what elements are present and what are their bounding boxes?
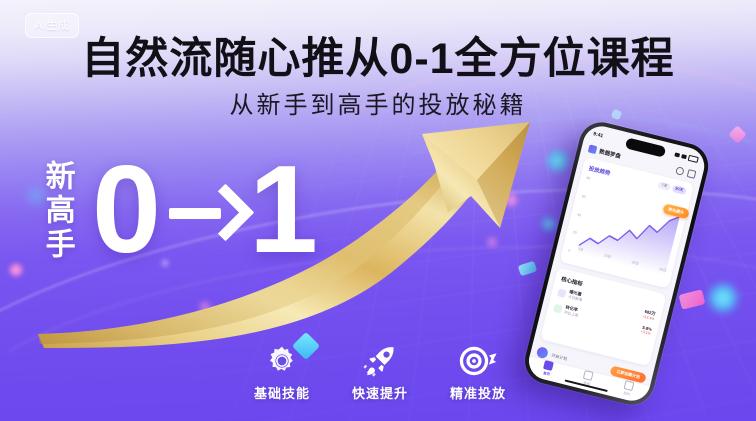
app-name: 数据罗盘 xyxy=(598,147,621,160)
chart-area: 80 60 40 20 0 xyxy=(568,176,684,277)
glow-orb-pink-3 xyxy=(503,192,519,208)
hero-to-value: 1 xyxy=(249,148,316,272)
chart-badge: 转化提升 xyxy=(662,203,690,219)
cta-row: 开启计划 立即创建计划 xyxy=(536,346,647,384)
chart-y-axis: 80 60 40 20 0 xyxy=(568,176,595,255)
ai-generated-watermark: AI生成 xyxy=(25,13,79,38)
list-item[interactable]: 转化率 环比上周 5.8% +3.1% xyxy=(553,302,653,337)
y-tick: 0 xyxy=(568,248,577,254)
confetti-rect-cyan xyxy=(518,261,538,277)
glow-orb-cyan-2 xyxy=(540,215,558,233)
feature-row: 基础技能 快速提升 xyxy=(240,342,520,402)
avatar xyxy=(536,346,549,359)
metric-change: +3.1% xyxy=(640,329,651,335)
tab-label: 数据 xyxy=(583,380,591,386)
glow-orb-pink-2 xyxy=(198,300,212,314)
phone-notch xyxy=(625,137,666,157)
user-icon xyxy=(623,380,634,391)
x-tick: 10日 xyxy=(603,252,612,261)
range-option-30d[interactable]: 30天 xyxy=(671,185,687,195)
rocket-icon xyxy=(362,342,398,380)
phone-tab-bar: 首页 数据 我的 xyxy=(525,355,650,404)
feature-basic-skills[interactable]: 基础技能 xyxy=(240,342,324,402)
tab-label: 我的 xyxy=(623,390,631,396)
confetti-diamond-pink xyxy=(728,125,746,143)
list-item[interactable]: 曝光量 今日新增 682万 +12.4% xyxy=(557,286,657,321)
phone-screen: 9:41 数据罗盘 投放趋势 xyxy=(525,122,708,404)
y-tick: 80 xyxy=(586,176,595,182)
wifi-icon xyxy=(681,154,687,159)
glow-orb-cyan-3 xyxy=(706,281,740,315)
chart-title: 投放趋势 xyxy=(588,164,687,196)
metric-name: 曝光量 xyxy=(569,289,642,313)
phone-mockup: 9:41 数据罗盘 投放趋势 xyxy=(516,114,742,380)
page-title: 自然流随心推从0-1全方位课程 xyxy=(0,36,756,82)
app-header: 数据罗盘 xyxy=(580,140,704,184)
x-tick: 30日 xyxy=(658,266,667,275)
metric-value: 5.8% xyxy=(641,325,652,332)
feature-precise-delivery[interactable]: 精准投放 xyxy=(436,342,520,402)
signal-icon xyxy=(674,152,680,157)
zero-to-one-hero: 0 1 xyxy=(92,148,316,272)
home-icon xyxy=(543,360,554,371)
phone-status-bar: 9:41 xyxy=(584,126,707,168)
feature-label: 快速提升 xyxy=(352,383,408,402)
tab-data[interactable]: 数据 xyxy=(582,370,594,387)
tab-label: 首页 xyxy=(543,370,551,376)
metric-name: 转化率 xyxy=(565,305,640,329)
metric-sub: 环比上周 xyxy=(564,310,639,333)
glow-orb-white-2 xyxy=(600,120,618,138)
chart-x-axis: 1日 10日 20日 30日 xyxy=(577,246,667,276)
y-tick: 60 xyxy=(581,194,590,200)
cta-text: 开启计划 xyxy=(551,352,568,362)
vertical-tagline: 新高手 xyxy=(38,160,75,262)
promo-banner: AI生成 自然流随心推从0-1全方位课程 从新手到高手的投放秘籍 新高手 xyxy=(0,0,756,421)
feature-fast-growth[interactable]: 快速提升 xyxy=(338,342,422,402)
x-tick: 20日 xyxy=(630,259,639,268)
x-tick: 1日 xyxy=(577,246,584,255)
feature-label: 基础技能 xyxy=(254,383,310,402)
status-time: 9:41 xyxy=(593,131,604,139)
metric-value: 682万 xyxy=(643,308,656,317)
area-chart xyxy=(577,178,684,277)
battery-icon xyxy=(688,155,699,163)
y-tick: 20 xyxy=(572,230,581,236)
range-option-7d[interactable]: 7天 xyxy=(657,181,671,191)
home-indicator xyxy=(565,379,608,392)
chart-plot xyxy=(577,178,684,277)
create-plan-button[interactable]: 立即创建计划 xyxy=(610,365,647,383)
metric-icon xyxy=(553,303,563,313)
phone-frame: 9:41 数据罗盘 投放趋势 xyxy=(520,118,713,410)
y-tick: 40 xyxy=(577,212,586,218)
glow-orb-cyan-1 xyxy=(545,148,571,174)
metrics-card: 核心指标 曝光量 今日新增 682万 +12.4% xyxy=(540,267,667,366)
page-subtitle: 从新手到高手的投放秘籍 xyxy=(0,92,756,121)
confetti-rect-pink xyxy=(679,289,706,309)
gear-icon xyxy=(265,342,299,380)
metric-sub: 今日新增 xyxy=(567,295,640,318)
right-arrow-icon xyxy=(167,181,241,239)
message-icon[interactable] xyxy=(687,169,697,179)
metrics-title: 核心指标 xyxy=(560,275,659,307)
target-icon xyxy=(458,342,498,380)
glow-orb-pink-1 xyxy=(8,262,24,278)
bell-icon[interactable] xyxy=(675,166,685,176)
chart-range-selector[interactable]: 7天 30天 xyxy=(657,181,686,195)
tab-home[interactable]: 首页 xyxy=(542,360,554,377)
hero-from-value: 0 xyxy=(92,148,159,272)
chart-card: 投放趋势 7天 30天 80 60 40 20 0 xyxy=(559,157,694,289)
feature-label: 精准投放 xyxy=(450,383,506,402)
chart-icon xyxy=(583,370,594,381)
tab-profile[interactable]: 我的 xyxy=(622,380,634,397)
metric-change: +12.4% xyxy=(642,314,655,321)
app-logo-icon xyxy=(588,144,598,154)
metric-icon xyxy=(557,288,567,298)
glow-orb-pink-4 xyxy=(486,236,498,248)
